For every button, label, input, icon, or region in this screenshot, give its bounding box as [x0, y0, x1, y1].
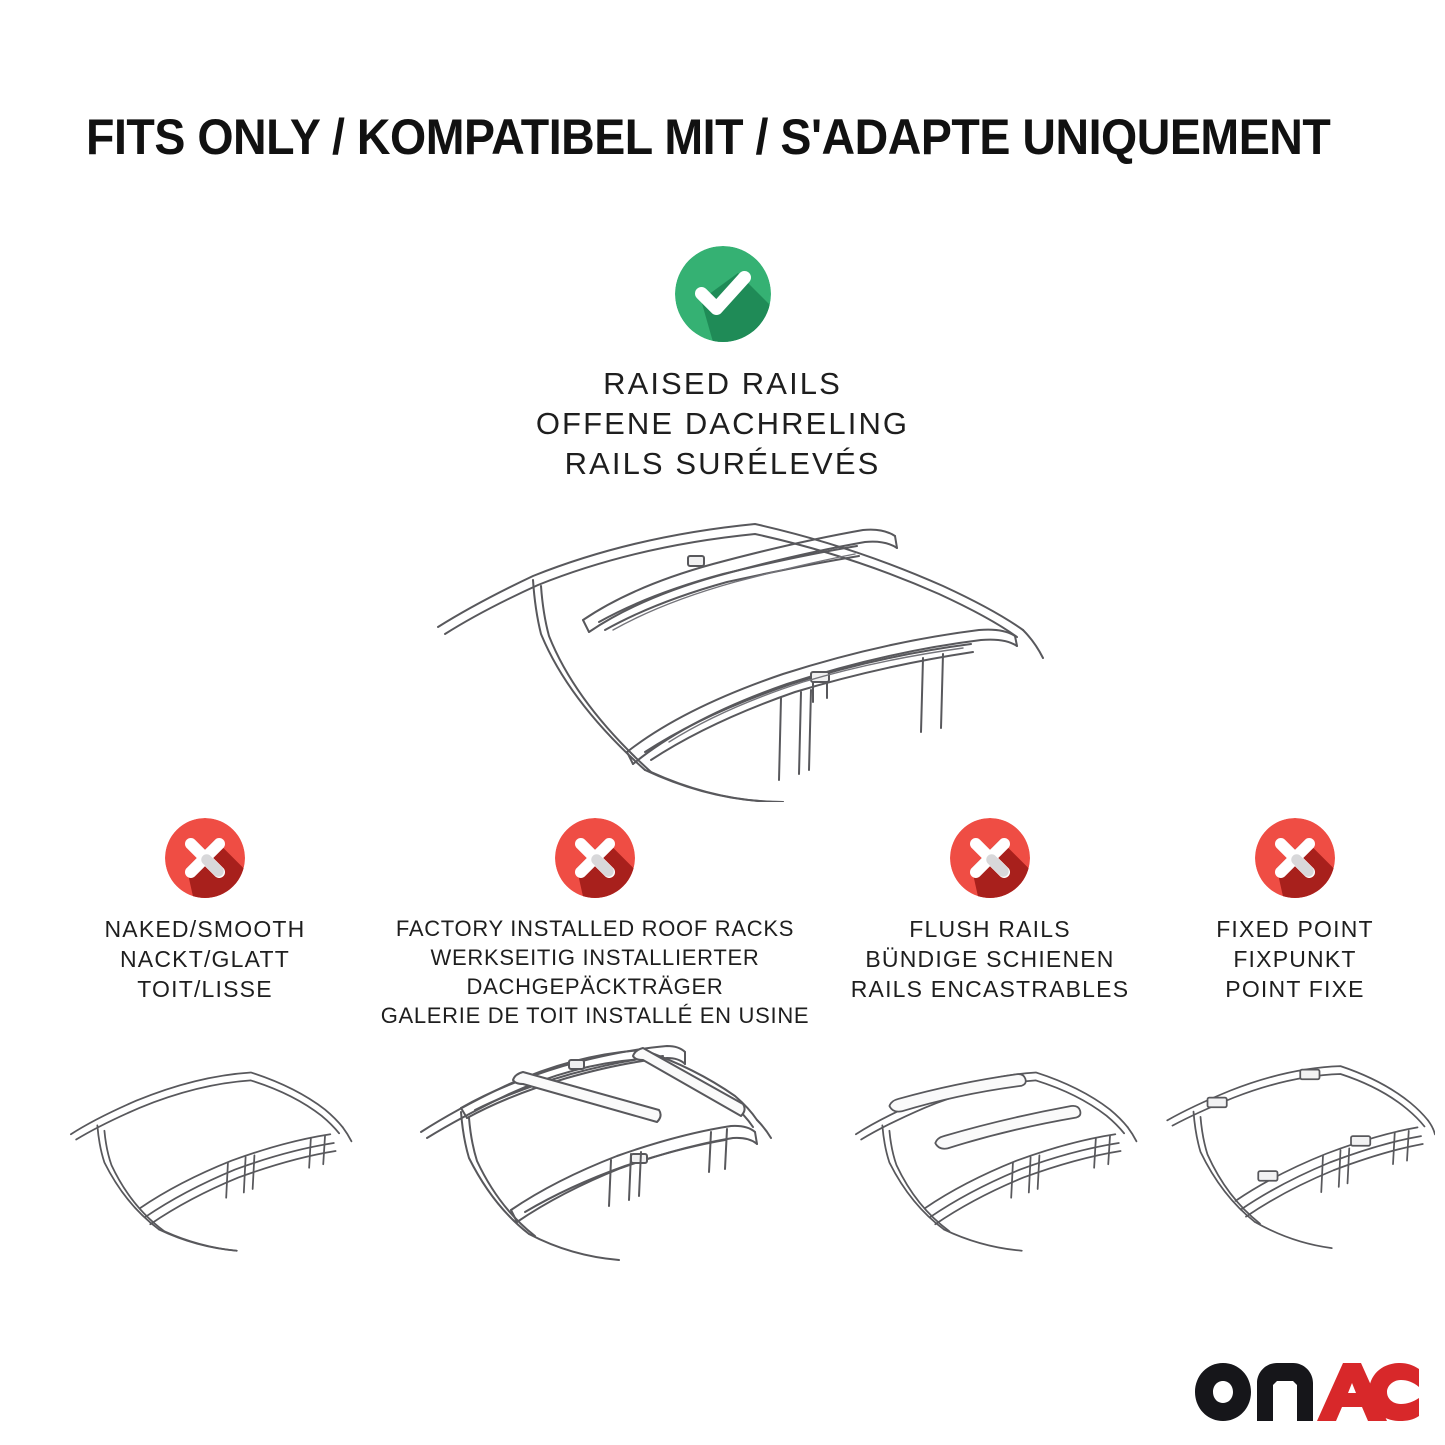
- cross-circle-icon: [1255, 818, 1335, 898]
- incompatible-caption: FACTORY INSTALLED ROOF RACKS WERKSEITIG …: [381, 914, 810, 1030]
- incompatible-section: NAKED/SMOOTH NACKT/GLATT TOIT/LISSE: [0, 818, 1445, 1438]
- caption-line: BÜNDIGE SCHIENEN: [851, 944, 1130, 974]
- incompatible-item-factory-roof-racks: FACTORY INSTALLED ROOF RACKS WERKSEITIG …: [372, 818, 818, 1278]
- incompatible-item-naked-smooth: NAKED/SMOOTH NACKT/GLATT TOIT/LISSE: [55, 818, 355, 1276]
- fitment-infographic: FITS ONLY / KOMPATIBEL MIT / S'ADAPTE UN…: [0, 0, 1445, 1445]
- cross-circle-icon: [950, 818, 1030, 898]
- cross-circle-icon: [165, 818, 245, 898]
- caption-line: WERKSEITIG INSTALLIERTER: [381, 943, 810, 972]
- caption-line: DACHGEPÄCKTRÄGER: [381, 972, 810, 1001]
- compatible-line-de: OFFENE DACHRELING: [536, 404, 909, 444]
- cross-circle-glyph: [1255, 818, 1335, 898]
- caption-line: NAKED/SMOOTH: [105, 914, 306, 944]
- car-roof-naked-smooth-illustration: [55, 1026, 355, 1276]
- caption-line: TOIT/LISSE: [105, 974, 306, 1004]
- incompatible-caption: FLUSH RAILS BÜNDIGE SCHIENEN RAILS ENCAS…: [851, 914, 1130, 1004]
- page-title: FITS ONLY / KOMPATIBEL MIT / S'ADAPTE UN…: [86, 108, 1286, 166]
- cross-circle-glyph: [950, 818, 1030, 898]
- car-roof-fixed-point-illustration: [1155, 1026, 1435, 1276]
- car-roof-with-raised-rails-illustration: [383, 502, 1063, 802]
- compatible-section: RAISED RAILS OFFENE DACHRELING RAILS SUR…: [0, 246, 1445, 802]
- caption-line: FIXPUNKT: [1216, 944, 1374, 974]
- check-circle-icon: [675, 246, 771, 342]
- compatible-line-fr: RAILS SURÉLEVÉS: [536, 444, 909, 484]
- car-roof-flush-rails-illustration: [840, 1026, 1140, 1276]
- cross-circle-glyph: [555, 818, 635, 898]
- caption-line: RAILS ENCASTRABLES: [851, 974, 1130, 1004]
- caption-line: NACKT/GLATT: [105, 944, 306, 974]
- caption-line: FIXED POINT: [1216, 914, 1374, 944]
- logo-letter-o: [1195, 1363, 1251, 1421]
- compatible-line-en: RAISED RAILS: [536, 364, 909, 404]
- incompatible-item-flush-rails: FLUSH RAILS BÜNDIGE SCHIENEN RAILS ENCAS…: [840, 818, 1140, 1276]
- compatible-caption: RAISED RAILS OFFENE DACHRELING RAILS SUR…: [536, 364, 909, 484]
- caption-line: FACTORY INSTALLED ROOF RACKS: [381, 914, 810, 943]
- caption-line: GALERIE DE TOIT INSTALLÉ EN USINE: [381, 1001, 810, 1030]
- incompatible-caption: FIXED POINT FIXPUNKT POINT FIXE: [1216, 914, 1374, 1004]
- logo-letter-m: [1257, 1363, 1313, 1421]
- car-roof-factory-roof-racks-illustration: [372, 1028, 818, 1278]
- check-circle-glyph: [675, 246, 771, 342]
- incompatible-caption: NAKED/SMOOTH NACKT/GLATT TOIT/LISSE: [105, 914, 306, 1004]
- incompatible-item-fixed-point: FIXED POINT FIXPUNKT POINT FIXE: [1155, 818, 1435, 1276]
- cross-circle-icon: [555, 818, 635, 898]
- caption-line: FLUSH RAILS: [851, 914, 1130, 944]
- caption-line: POINT FIXE: [1216, 974, 1374, 1004]
- omac-logo: [1193, 1361, 1421, 1423]
- cross-circle-glyph: [165, 818, 245, 898]
